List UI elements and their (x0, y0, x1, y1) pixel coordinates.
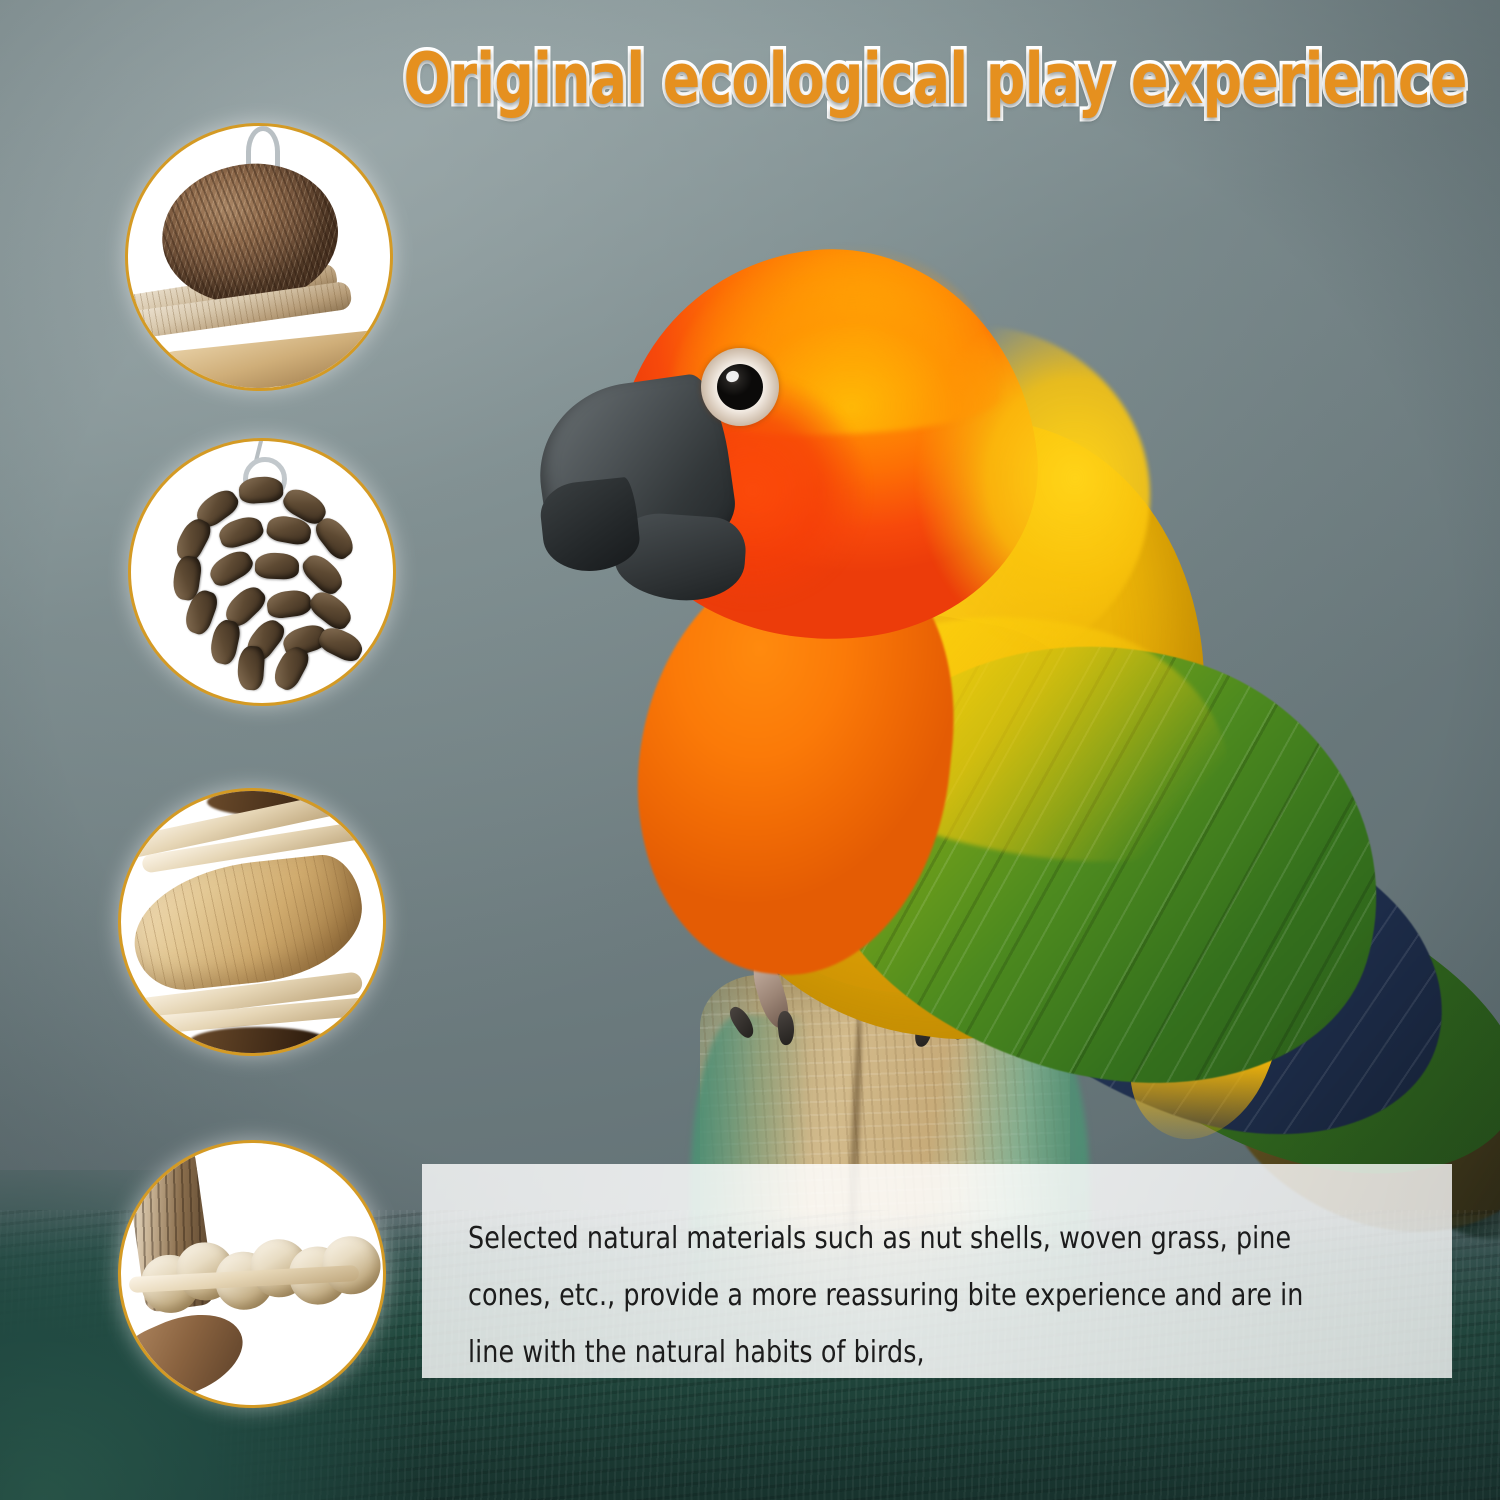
thumbnail-braided-rope[interactable] (118, 1140, 386, 1408)
braided-grass-rope-icon (121, 1143, 383, 1405)
page-title: Original ecological play experience (180, 44, 1500, 114)
pine-cone-icon (131, 441, 393, 703)
product-marketing-image: Original ecological play experience (0, 0, 1500, 1500)
thumbnail-corn-husk[interactable] (118, 788, 386, 1056)
description-text: Selected natural materials such as nut s… (468, 1210, 1352, 1381)
corn-husk-icon (121, 791, 383, 1053)
thumbnail-pine-cone[interactable] (128, 438, 396, 706)
description-panel: Selected natural materials such as nut s… (422, 1164, 1452, 1378)
nut-shell-icon (128, 126, 390, 388)
thumbnail-nut-shell[interactable] (125, 123, 393, 391)
